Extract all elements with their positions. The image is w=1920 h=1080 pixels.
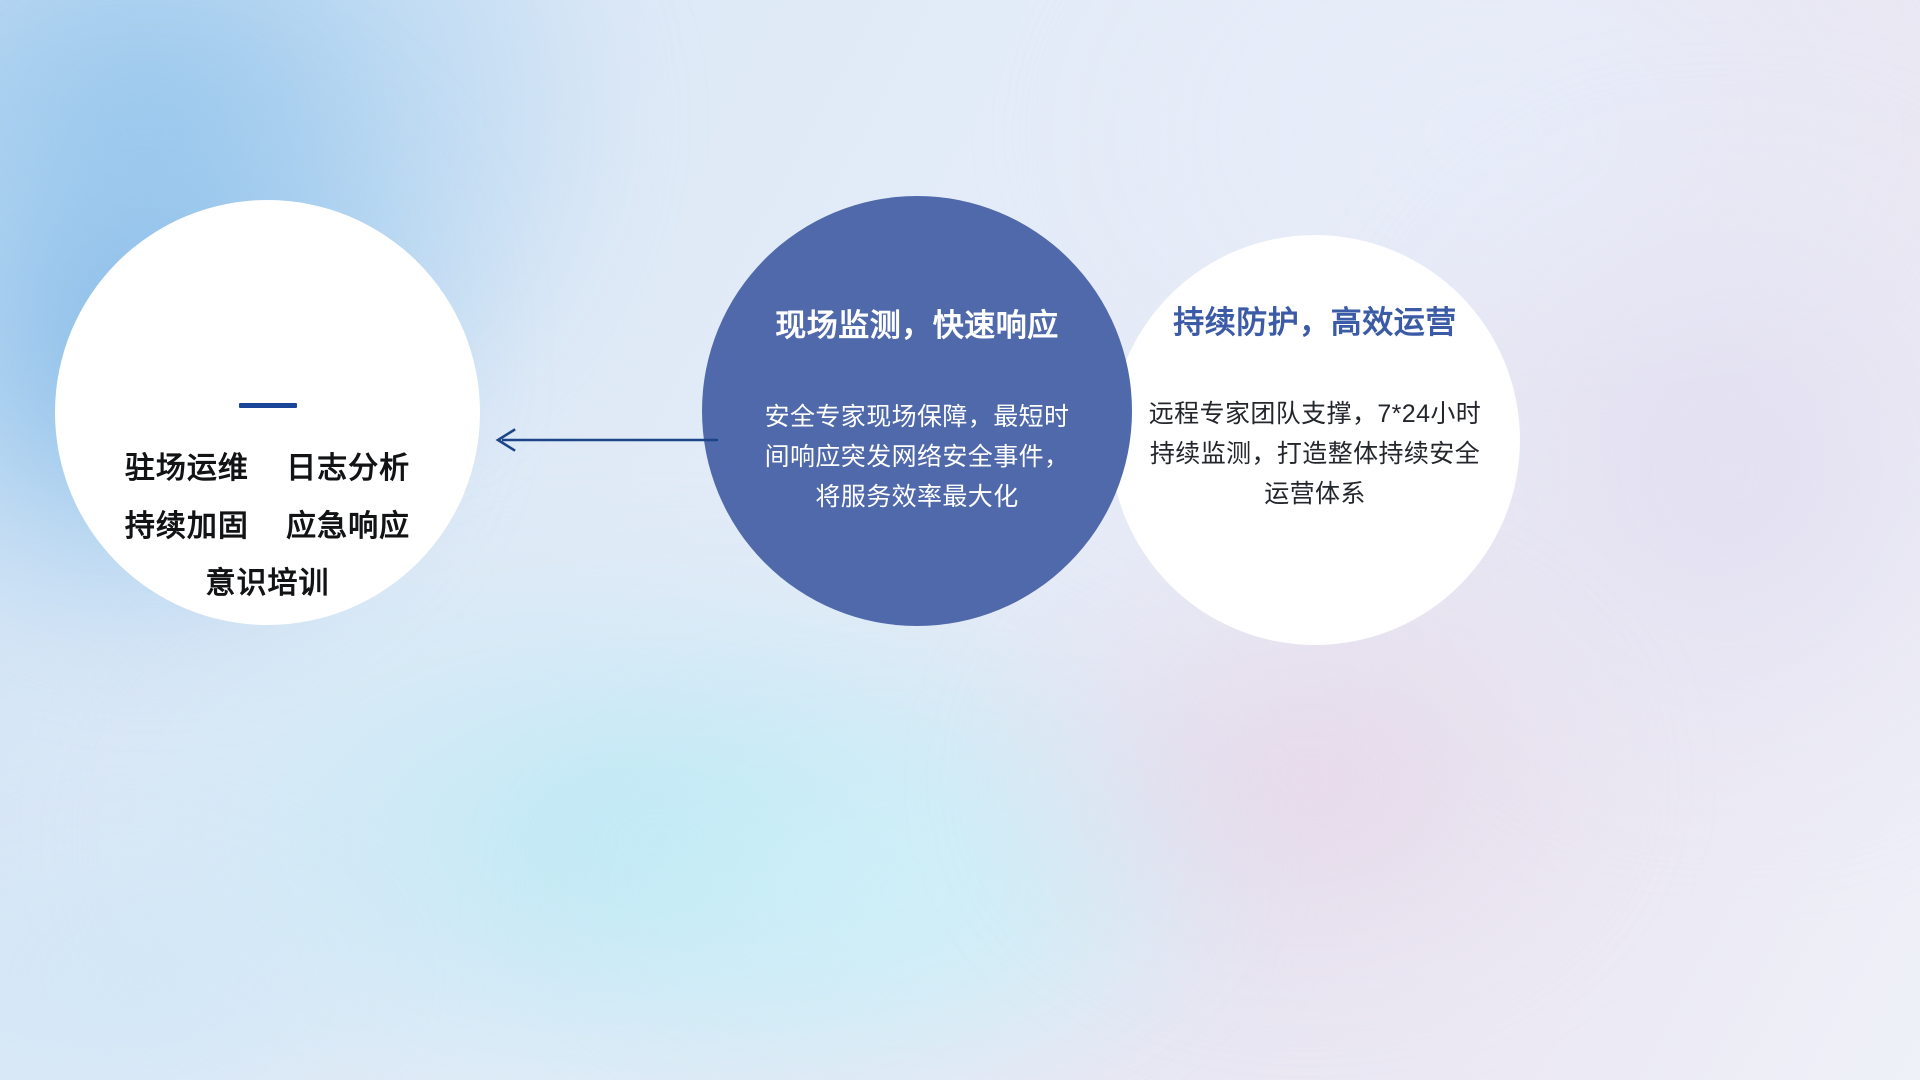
flow-arrow (480, 420, 720, 460)
right-circle-title: 持续防护，高效运营 (1173, 297, 1457, 342)
list-item: 意识培训 (125, 555, 410, 613)
slide-canvas: 驻场运维 日志分析 持续加固 应急响应 意识培训 持续防护，高效运营 远程专家团… (0, 0, 1920, 1080)
mid-circle-title: 现场监测，快速响应 (775, 300, 1059, 345)
mid-circle-body: 安全专家现场保障，最短时间响应突发网络安全事件，将服务效率最大化 (764, 397, 1070, 517)
arrow-left-icon (480, 420, 720, 460)
background-glow-bottom-left (0, 820, 400, 1080)
divider-dash-icon (239, 403, 297, 408)
left-circle-keyword-list: 驻场运维 日志分析 持续加固 应急响应 意识培训 (125, 440, 410, 613)
mid-service-circle[interactable]: 现场监测，快速响应 安全专家现场保障，最短时间响应突发网络安全事件，将服务效率最… (702, 196, 1132, 626)
right-circle-body: 远程专家团队支撑，7*24小时持续监测，打造整体持续安全运营体系 (1144, 394, 1486, 514)
list-item: 驻场运维 日志分析 (125, 440, 410, 498)
right-service-circle[interactable]: 持续防护，高效运营 远程专家团队支撑，7*24小时持续监测，打造整体持续安全运营… (1110, 235, 1520, 645)
left-service-circle[interactable]: 驻场运维 日志分析 持续加固 应急响应 意识培训 (55, 200, 480, 625)
list-item: 持续加固 应急响应 (125, 498, 410, 556)
